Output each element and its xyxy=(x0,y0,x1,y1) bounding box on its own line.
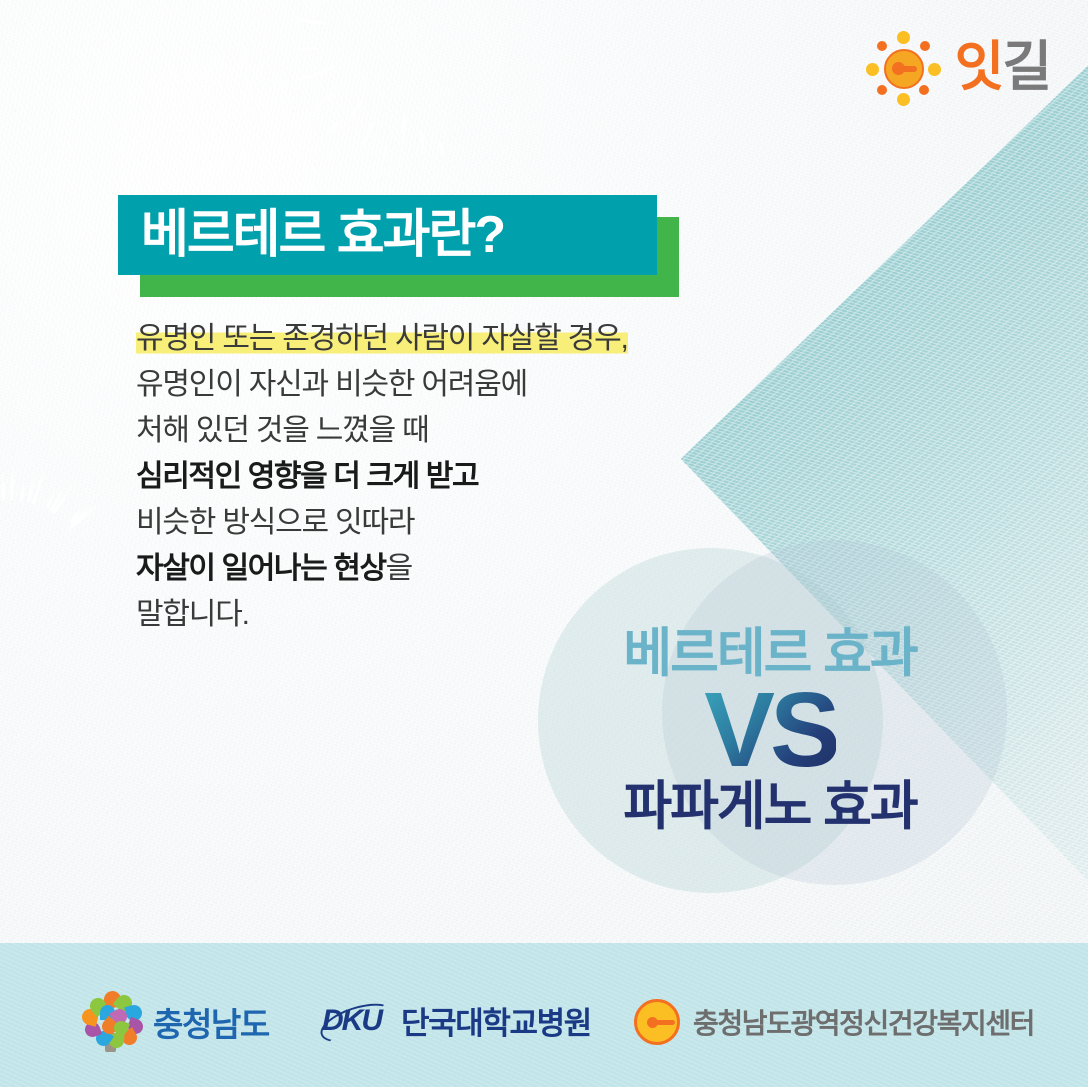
sun-burst-icon xyxy=(867,32,941,106)
brand-logo-text-accent: 잇 xyxy=(955,37,1003,97)
vs-comparison-graphic: 베르테르 효과 VS 파파게노 효과 xyxy=(520,520,1020,940)
org-name-dku: 단국대학교병원 xyxy=(401,998,591,1043)
org-logo-chungnam[interactable]: 충청남도 xyxy=(78,993,269,1051)
vs-separator-label: VS xyxy=(704,680,835,781)
sunburst-rays-left-icon xyxy=(0,430,78,570)
sunburst-rays-top-icon xyxy=(336,0,476,22)
brand-logo-text: 잇길 xyxy=(955,40,1050,94)
orange-circle-icon xyxy=(634,999,680,1045)
body-line-1: 유명인 또는 존경하던 사람이 자살할 경우, xyxy=(136,316,606,362)
body-line-6-emphasis: 자살이 일어나는 현상 xyxy=(136,552,386,585)
vs-bottom-label: 파파게노 효과 xyxy=(623,780,916,833)
org-logo-dku[interactable]: DKU 단국대학교병원 xyxy=(322,998,591,1043)
page-title-text: 베르테르 효과란? xyxy=(141,209,504,261)
body-line-4-emphasis: 심리적인 영향을 더 크게 받고 xyxy=(136,460,478,493)
footer-bar: 충청남도 DKU 단국대학교병원 충청남도광역정신건강복지센터 xyxy=(0,943,1088,1087)
dku-swoosh-icon: DKU xyxy=(322,1004,388,1038)
org-name-chungnam: 충청남도 xyxy=(153,998,269,1046)
title-block: 베르테르 효과란? xyxy=(118,195,657,275)
brand-logo-text-rest: 길 xyxy=(1002,37,1050,97)
infographic-card: 잇길 베르테르 효과란? 유명인 또는 존경하던 사람이 자살할 경우,유명인이… xyxy=(0,0,1088,1087)
colorful-tree-logo-icon xyxy=(78,993,140,1051)
body-line-4: 심리적인 영향을 더 크게 받고 xyxy=(136,454,606,500)
org-name-center: 충청남도광역정신건강복지센터 xyxy=(693,1002,1034,1042)
brand-logo[interactable]: 잇길 xyxy=(867,32,1050,106)
body-line-2: 유명인이 자신과 비슷한 어려움에 xyxy=(136,362,606,408)
page-title: 베르테르 효과란? xyxy=(118,195,657,275)
org-logo-center[interactable]: 충청남도광역정신건강복지센터 xyxy=(634,999,1034,1045)
body-line-3: 처해 있던 것을 느꼈을 때 xyxy=(136,408,606,454)
body-line-1-highlight: 유명인 또는 존경하던 사람이 자살할 경우, xyxy=(136,322,628,355)
